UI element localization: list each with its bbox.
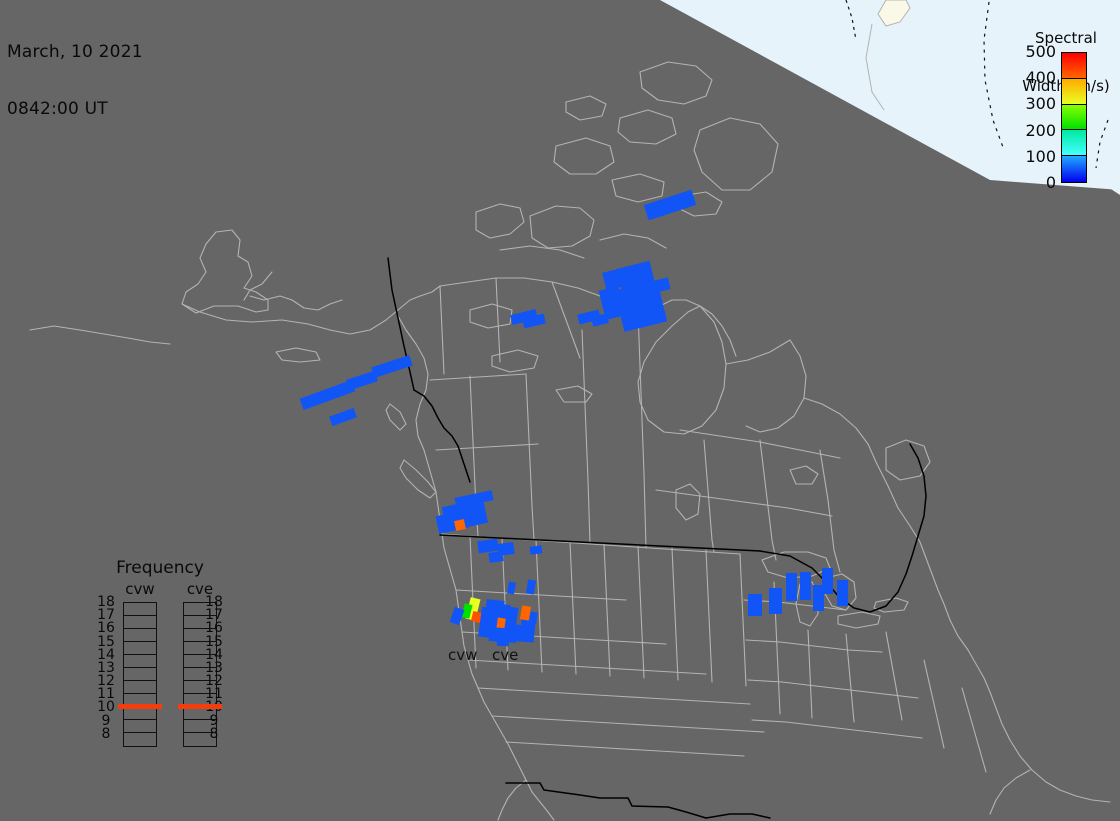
frequency-column-label-cvw: cvw (117, 580, 163, 598)
frequency-marker-cvw (118, 704, 162, 709)
colorbar-tick-300: 300 (1025, 96, 1056, 112)
map-site-label-cve: cve (492, 646, 518, 664)
colorbar-tick-500: 500 (1025, 44, 1056, 60)
radar-echo-cell (837, 580, 848, 606)
colorbar-tick-0: 0 (1046, 175, 1056, 191)
colorbar-gradient (1061, 52, 1087, 183)
radar-echo-cell (464, 501, 488, 527)
colorbar-segment-1 (1062, 79, 1086, 105)
radar-echo-cell (591, 313, 609, 327)
timestamp-date: March, 10 2021 (7, 43, 143, 62)
frequency-legend-title: Frequency (85, 558, 235, 578)
frequency-legend: Frequency cvw18171615141312111098cve1817… (85, 558, 235, 798)
frequency-scale-row (124, 603, 156, 616)
radar-echo-cell (786, 573, 797, 601)
radar-echo-cell (518, 632, 535, 642)
radar-echo-cell (450, 607, 465, 625)
spectral-width-colorbar: Spectral Width (m/s) 5004003002001000 (1012, 0, 1120, 200)
frequency-tick-8: 8 (203, 728, 225, 741)
frequency-tick-8: 8 (95, 728, 117, 741)
radar-echo-cell (769, 588, 782, 614)
frequency-ticks-cve: 18171615141312111098 (203, 596, 225, 741)
timestamp-time: 0842:00 UT (7, 100, 143, 119)
radar-echo-cell (454, 519, 466, 531)
colorbar-segment-4 (1062, 156, 1086, 182)
frequency-scale-row (124, 642, 156, 655)
radar-echo-cell (507, 581, 516, 594)
colorbar-segment-0 (1062, 53, 1086, 79)
radar-echo-cell (644, 190, 696, 221)
colorbar-tick-200: 200 (1025, 123, 1056, 139)
colorbar-tick-labels: 5004003002001000 (1012, 44, 1056, 192)
radar-echo-cell (371, 355, 412, 378)
colorbar-segment-3 (1062, 130, 1086, 156)
frequency-scale-cvw (123, 602, 157, 747)
frequency-marker-cve (178, 704, 222, 709)
radar-echo-cell (800, 572, 811, 600)
radar-echo-cell (497, 636, 510, 647)
timestamp: March, 10 2021 0842:00 UT (7, 5, 143, 157)
map-site-label-cvw: cvw (448, 646, 477, 664)
frequency-scale-row (124, 629, 156, 642)
colorbar-segment-2 (1062, 105, 1086, 131)
colorbar-tick-400: 400 (1025, 70, 1056, 86)
frequency-scale-row (124, 668, 156, 681)
frequency-scale-row (124, 655, 156, 668)
frequency-scale-row (124, 616, 156, 629)
radar-echo-cell (529, 611, 538, 624)
frequency-scale-row (124, 733, 156, 746)
radar-echo-cell (530, 545, 543, 555)
radar-echo-cell (329, 408, 357, 426)
radar-echo-cell (300, 380, 356, 410)
frequency-ticks-cvw: 18171615141312111098 (95, 596, 117, 741)
radar-echo-cell (748, 594, 762, 616)
radar-echo-cell (488, 551, 503, 563)
radar-echo-cell (526, 579, 536, 594)
colorbar-tick-100: 100 (1025, 149, 1056, 165)
frequency-scale-row (124, 720, 156, 733)
frequency-scale-row (124, 681, 156, 694)
radar-map-root: March, 10 2021 0842:00 UT Spectral Width… (0, 0, 1120, 821)
radar-echo-cell (822, 568, 833, 594)
